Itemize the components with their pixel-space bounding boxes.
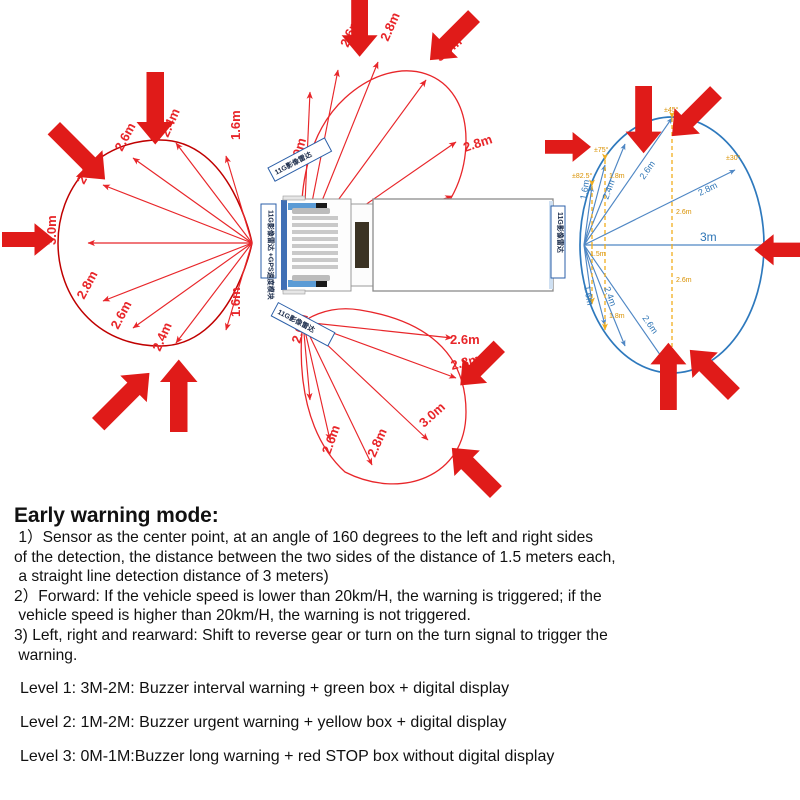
warning-level-2: Level 2: 1M-2M: Buzzer urgent warning + … <box>20 712 800 733</box>
rear-fan-offset-1-8m-lower: 1.8m <box>609 313 625 320</box>
front-sensor-label: 11G影像雷达 +GPS速度模块 <box>261 204 276 301</box>
front-sensor-label-text: 11G影像雷达 +GPS速度模块 <box>267 210 276 301</box>
rear-fan-angle-75-upper: ±75° <box>594 146 609 154</box>
approach-arrow-s-right <box>650 343 686 410</box>
bottom-fan-label-2-8m: 2.8m <box>364 426 390 459</box>
rule-line-7: warning. <box>14 646 794 666</box>
rear-fan-angle-30-upper: ±30° <box>726 154 741 162</box>
approach-arrow-e <box>754 234 800 265</box>
rear-fan-label-2-4m-upper: 2.4m <box>600 178 616 200</box>
warning-text-block: Early warning mode: 1）Sensor as the cent… <box>0 498 800 800</box>
front-fan-label-2-8m-lower: 2.8m <box>73 268 100 301</box>
rear-fan-offset-1-8m-upper: 1.8m <box>609 173 625 180</box>
warning-level-1: Level 1: 3M-2M: Buzzer interval warning … <box>20 678 800 699</box>
front-fan-label-2-4m-lower: 2.4m <box>149 320 175 353</box>
front-fan-label-1-6m-upper: 1.6m <box>228 110 243 140</box>
rear-sensor-label-text: 11G影像雷达 <box>556 212 565 253</box>
front-fan-label-2-6m-lower: 2.6m <box>107 298 134 331</box>
rule-line-3: a straight line detection distance of 3 … <box>14 567 794 587</box>
rear-fan-label-1-6m-lower: 1.6m <box>582 285 595 306</box>
rear-detection-fan: 3m 2.6m 2.8m 2.4m 1.6m 2.6m 2.4m 1.6m ±4… <box>572 106 764 373</box>
rule-line-4: 2）Forward: If the vehicle speed is lower… <box>14 587 794 607</box>
rear-fan-label-2-6m-lower: 2.6m <box>640 313 660 335</box>
page-title: Early warning mode: <box>14 504 800 528</box>
rear-sensor-label: 11G影像雷达 <box>551 206 565 278</box>
rear-fan-label-2-6m-upper: 2.6m <box>637 159 657 181</box>
rear-fan-angle-82-upper: ±82.5° <box>572 172 592 180</box>
rear-fan-offset-2-6m-upper: 2.6m <box>676 209 692 216</box>
approach-arrow-sw <box>85 360 163 438</box>
rule-line-5: vehicle speed is higher than 20km/H, the… <box>14 606 794 626</box>
front-fan-label-1-6m-lower: 1.6m <box>228 287 243 317</box>
front-fan-label-2-6m-upper: 2.6m <box>111 120 138 153</box>
sensor-coverage-diagram: 3.0m 2.8m 2.6m 2.4m 1.6m 2.8m 2.6m 2.4m … <box>0 0 800 500</box>
approach-arrow-ne-inner <box>417 3 487 73</box>
rule-line-1: 1）Sensor as the center point, at an angl… <box>14 528 794 548</box>
bottom-fan-label-2-6m: 2.6m <box>319 423 343 456</box>
approach-arrow-s-center <box>439 435 509 500</box>
bottom-fan-label-2-6m-right: 2.6m <box>450 332 480 347</box>
rear-fan-label-2-8m-upper: 2.8m <box>696 180 718 198</box>
rear-fan-label-3m: 3m <box>700 230 717 244</box>
rear-fan-offset-1-5m: 1.5m <box>590 251 606 258</box>
bottom-fan-label-3-0m: 3.0m <box>416 399 448 430</box>
approach-arrow-s-left <box>160 360 198 433</box>
warning-levels: Level 1: 3M-2M: Buzzer interval warning … <box>0 678 800 767</box>
warning-level-3: Level 3: 0M-1M:Buzzer long warning + red… <box>20 746 800 767</box>
vehicle-top-view <box>281 196 553 294</box>
approach-arrow-ne <box>659 79 729 149</box>
rule-line-6: 3) Left, right and rearward: Shift to re… <box>14 626 794 646</box>
rule-line-2: of the detection, the distance between t… <box>14 548 794 568</box>
top-fan-label-2-8m: 2.8m <box>377 10 403 43</box>
rear-fan-offset-2-6m-lower: 2.6m <box>676 277 692 284</box>
rear-fan-label-1-6m-upper: 1.6m <box>578 179 591 200</box>
approach-arrow-e-top-fan <box>545 132 591 162</box>
